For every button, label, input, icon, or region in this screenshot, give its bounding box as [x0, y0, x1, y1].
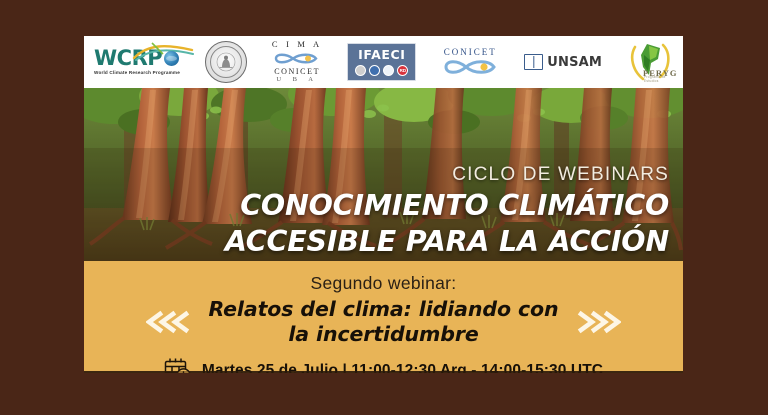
cima-conicet-label: CONICET	[274, 67, 320, 76]
partner-icon-4: RD	[397, 65, 408, 76]
conicet-logo: CONICET	[441, 47, 499, 77]
wcrp-logo: WCRP World Climate Research Programme	[94, 48, 180, 76]
logo-bar: WCRP World Climate Research Programme	[84, 36, 683, 88]
infinity-icon	[272, 51, 322, 66]
cima-logo: C I M A CONICET U B A	[272, 40, 323, 83]
panel-eyebrow: Segundo webinar:	[84, 261, 683, 294]
partner-icon-1	[355, 65, 366, 76]
wcrp-swoosh-icon	[132, 42, 194, 62]
cima-uba-label: U B A	[276, 76, 318, 83]
cima-wordmark: C I M A	[272, 40, 323, 50]
webinar-title-line-2: la incertidumbre	[208, 322, 558, 347]
ifaeci-partner-icons: RD	[355, 65, 408, 76]
uba-seal-logo	[205, 41, 247, 83]
chevrons-left-icon	[146, 310, 192, 334]
webinar-poster: WCRP World Climate Research Programme	[0, 0, 768, 415]
partner-icon-2	[369, 65, 380, 76]
webinar-title-row: Relatos del clima: lidiando con la incer…	[84, 297, 683, 347]
wcrp-tagline: World Climate Research Programme	[94, 71, 180, 76]
forest-illustration	[84, 88, 683, 261]
peryg-tagline: Programa de Estudios	[644, 75, 673, 83]
peryg-logo: PERYG Programa de Estudios	[627, 41, 673, 83]
webinar-title-line-1: Relatos del clima: lidiando con	[208, 297, 558, 322]
globe-icon	[164, 51, 179, 66]
unsam-wordmark: UNSAM	[547, 55, 602, 70]
poster-content: WCRP World Climate Research Programme	[84, 36, 683, 373]
peryg-mark: PERYG Programa de Estudios	[627, 41, 673, 83]
ifaeci-wordmark: IFAECI	[358, 47, 405, 62]
webinar-title: Relatos del clima: lidiando con la incer…	[208, 297, 558, 347]
conicet-wordmark: CONICET	[444, 47, 497, 57]
university-seal-icon	[205, 41, 247, 83]
unsam-logo: UNSAM	[524, 54, 602, 70]
seal-figure-icon	[216, 52, 236, 72]
webinar-panel: Segundo webinar: Relatos del clima: lidi…	[84, 261, 683, 371]
ifaeci-logo: IFAECI RD	[347, 43, 416, 81]
book-icon	[524, 54, 543, 70]
forest-background: CICLO DE WEBINARS CONOCIMIENTO CLIMÁTICO…	[84, 88, 683, 261]
chevrons-right-icon	[575, 310, 621, 334]
partner-icon-3	[383, 65, 394, 76]
conicet-infinity-icon	[441, 57, 499, 77]
panel-bottom-shadow	[84, 371, 683, 373]
